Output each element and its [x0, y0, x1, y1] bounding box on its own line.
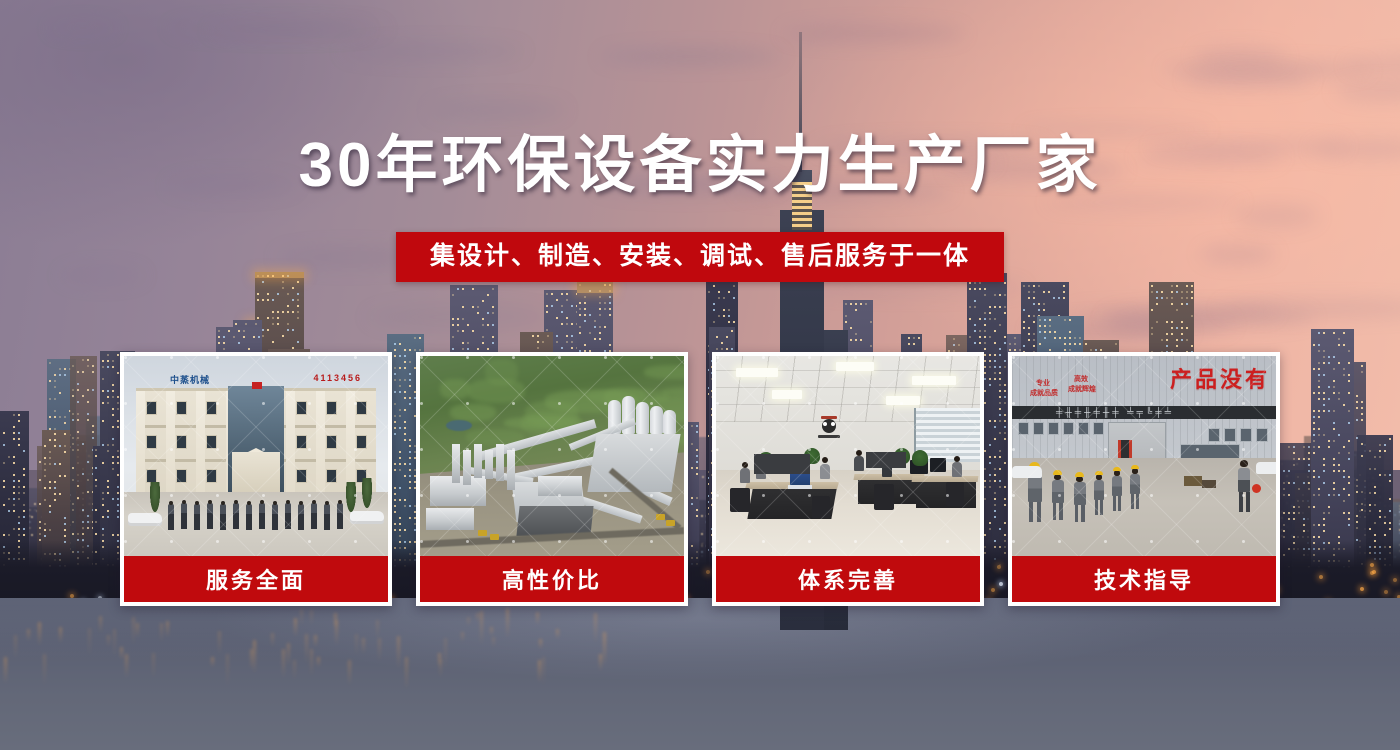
factory-slogan-small: 专业 [1036, 380, 1050, 388]
factory-slogan-small: 成就品质 [1030, 390, 1058, 398]
card-label: 服务全面 [124, 556, 388, 602]
card-photo-plant [420, 356, 684, 556]
feature-card[interactable]: 中蒸机械 4113456 服务全面 [120, 352, 392, 606]
building-phone-number: 4113456 [313, 373, 362, 383]
building-signage: 中蒸机械 [170, 373, 210, 386]
feature-card[interactable]: 体系完善 [712, 352, 984, 606]
page-title: 30年环保设备实力生产厂家 [0, 130, 1400, 202]
river-sheen [0, 598, 1400, 750]
feature-card-row: 中蒸机械 4113456 服务全面 高性价比 [120, 352, 1280, 606]
card-label: 体系完善 [716, 556, 980, 602]
factory-slogan-small: 成就辉煌 [1068, 386, 1096, 394]
subtitle-banner: 集设计、制造、安装、调试、售后服务于一体 [396, 232, 1004, 282]
card-label: 高性价比 [420, 556, 684, 602]
feature-card[interactable]: 高性价比 [416, 352, 688, 606]
factory-slogan-small: 高效 [1074, 376, 1088, 384]
feature-card[interactable]: 产品没有 专业 成就品质 高效 成就辉煌 ╪╫╪╫╪╫╪ ╧╤╚╪╧ 技术指导 [1008, 352, 1280, 606]
card-photo-office [716, 356, 980, 556]
card-label: 技术指导 [1012, 556, 1276, 602]
flag-icon [252, 382, 262, 389]
card-photo-workers: 产品没有 专业 成就品质 高效 成就辉煌 ╪╫╪╫╪╫╪ ╧╤╚╪╧ [1012, 356, 1276, 556]
factory-slogan: 产品没有 [1170, 362, 1270, 394]
card-photo-headquarters: 中蒸机械 4113456 [124, 356, 388, 556]
promo-banner: 30年环保设备实力生产厂家 集设计、制造、安装、调试、售后服务于一体 中蒸机械 … [0, 0, 1400, 750]
wall-emblem-icon [812, 412, 846, 442]
subtitle-text: 集设计、制造、安装、调试、售后服务于一体 [430, 241, 970, 271]
